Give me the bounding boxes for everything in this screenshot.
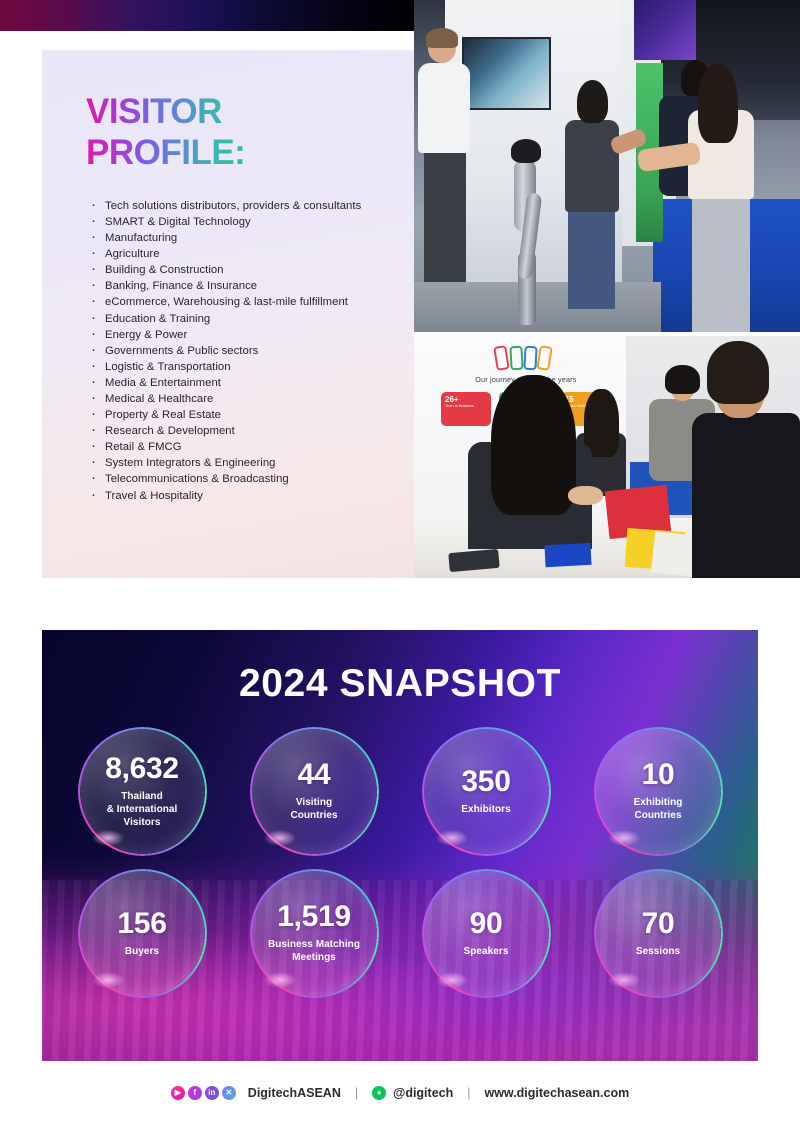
photo-person-man-hair	[426, 28, 459, 48]
list-item: System Integrators & Engineering	[88, 455, 414, 471]
stat-value: 1,519	[277, 902, 351, 932]
photo2-blue-brochure	[545, 543, 592, 567]
photo-person-woman3-hair	[698, 63, 739, 143]
photo-person-man-body	[418, 63, 470, 153]
list-item: Travel & Hospitality	[88, 488, 414, 504]
photo-floor	[414, 282, 661, 332]
photo2-man2-body	[692, 413, 800, 578]
footer-divider-1: |	[355, 1086, 358, 1100]
photo-display-screen	[462, 37, 551, 110]
photo2-exhibitor-logo-icon	[495, 346, 553, 370]
list-item: Tech solutions distributors, providers &…	[88, 198, 414, 214]
stat-bubble-sessions: 70 Sessions	[595, 870, 721, 996]
linkedin-icon[interactable]: in	[205, 1086, 219, 1100]
expo-robot-photo	[414, 0, 800, 332]
snapshot-title: 2024 SNAPSHOT	[42, 630, 758, 706]
list-item: Banking, Finance & Insurance	[88, 278, 414, 294]
brand-handle: DigitechASEAN	[248, 1086, 341, 1100]
list-item: Retail & FMCG	[88, 439, 414, 455]
photo-person-woman1-body	[565, 120, 619, 213]
title-line-2: PROFILE:	[86, 133, 245, 174]
stat-bubble-visitors: 8,632 Thailand& InternationalVisitors	[79, 728, 205, 854]
list-item: Governments & Public sectors	[88, 343, 414, 359]
photo2-man2-hair	[707, 341, 769, 404]
list-item: Media & Entertainment	[88, 375, 414, 391]
list-item: SMART & Digital Technology	[88, 214, 414, 230]
stat-value: 90	[470, 909, 503, 939]
line-icon[interactable]: ●	[372, 1086, 386, 1100]
visitor-profile-list: Tech solutions distributors, providers &…	[88, 198, 414, 504]
photo2-stat-caption: Years In Business	[441, 404, 491, 409]
list-item: Research & Development	[88, 423, 414, 439]
list-item: eCommerce, Warehousing & last-mile fulfi…	[88, 294, 414, 310]
photo2-woman-hand	[568, 486, 603, 505]
social-icon-group: ▶ f in ✕	[171, 1086, 236, 1100]
stat-label: Thailand& InternationalVisitors	[107, 790, 178, 829]
stat-value: 44	[298, 760, 331, 790]
list-item: Telecommunications & Broadcasting	[88, 471, 414, 487]
stat-label: Sessions	[636, 945, 680, 958]
photo-purple-banner	[634, 0, 696, 60]
stat-value: 10	[642, 760, 675, 790]
stat-label: Buyers	[125, 945, 159, 958]
line-handle: @digitech	[393, 1086, 453, 1100]
list-item: Education & Training	[88, 311, 414, 327]
website-url[interactable]: www.digitechasean.com	[484, 1086, 629, 1100]
footer-divider-2: |	[467, 1086, 470, 1100]
stat-label: Exhibitors	[461, 803, 510, 816]
list-item: Manufacturing	[88, 230, 414, 246]
list-item: Agriculture	[88, 246, 414, 262]
photo2-stat-value: 26+	[441, 392, 491, 404]
top-gradient-bar	[0, 0, 414, 31]
stat-label: Speakers	[464, 945, 509, 958]
title-line-1: VISITOR	[86, 92, 222, 131]
photo-person-woman1-hair	[577, 80, 608, 123]
list-item: Medical & Healthcare	[88, 391, 414, 407]
stat-value: 8,632	[105, 754, 179, 784]
stat-value: 156	[117, 909, 166, 939]
stat-bubble-exhibitors: 350 Exhibitors	[423, 728, 549, 854]
youtube-icon[interactable]: ▶	[171, 1086, 185, 1100]
stat-bubble-speakers: 90 Speakers	[423, 870, 549, 996]
list-item: Property & Real Estate	[88, 407, 414, 423]
stat-value: 350	[461, 767, 510, 797]
stat-bubble-business-matching: 1,519 Business MatchingMeetings	[251, 870, 377, 996]
stat-value: 70	[642, 909, 675, 939]
business-matching-photo: Our journey through the years 26+ Years …	[414, 336, 800, 578]
stat-label: Business MatchingMeetings	[268, 938, 360, 964]
stat-bubble-exhibiting-countries: 10 ExhibitingCountries	[595, 728, 721, 854]
stat-label: VisitingCountries	[290, 796, 337, 822]
list-item: Building & Construction	[88, 262, 414, 278]
snapshot-stats-grid: 8,632 Thailand& InternationalVisitors 44…	[42, 728, 758, 996]
photo-person-man-legs	[424, 149, 466, 282]
stat-label: ExhibitingCountries	[634, 796, 683, 822]
photo-person-woman1-legs	[568, 209, 614, 309]
photo-robot-head	[511, 139, 542, 162]
photo2-stat-card: 26+ Years In Business	[441, 392, 491, 426]
list-item: Logistic & Transportation	[88, 359, 414, 375]
footer-bar: ▶ f in ✕ DigitechASEAN | ● @digitech | w…	[0, 1078, 800, 1108]
photo-person-woman3-legs	[692, 196, 750, 332]
list-item: Energy & Power	[88, 327, 414, 343]
x-twitter-icon[interactable]: ✕	[222, 1086, 236, 1100]
facebook-icon[interactable]: f	[188, 1086, 202, 1100]
poster-page: VISITOR PROFILE: Tech solutions distribu…	[0, 0, 800, 1131]
stat-bubble-visiting-countries: 44 VisitingCountries	[251, 728, 377, 854]
visitor-profile-panel: VISITOR PROFILE: Tech solutions distribu…	[42, 50, 414, 578]
snapshot-panel: 2024 SNAPSHOT 8,632 Thailand& Internatio…	[42, 630, 758, 1061]
photo2-woman-hair	[491, 375, 576, 515]
page-title: VISITOR PROFILE:	[42, 50, 245, 174]
stat-bubble-buyers: 156 Buyers	[79, 870, 205, 996]
photo2-man1-hair	[665, 365, 700, 394]
